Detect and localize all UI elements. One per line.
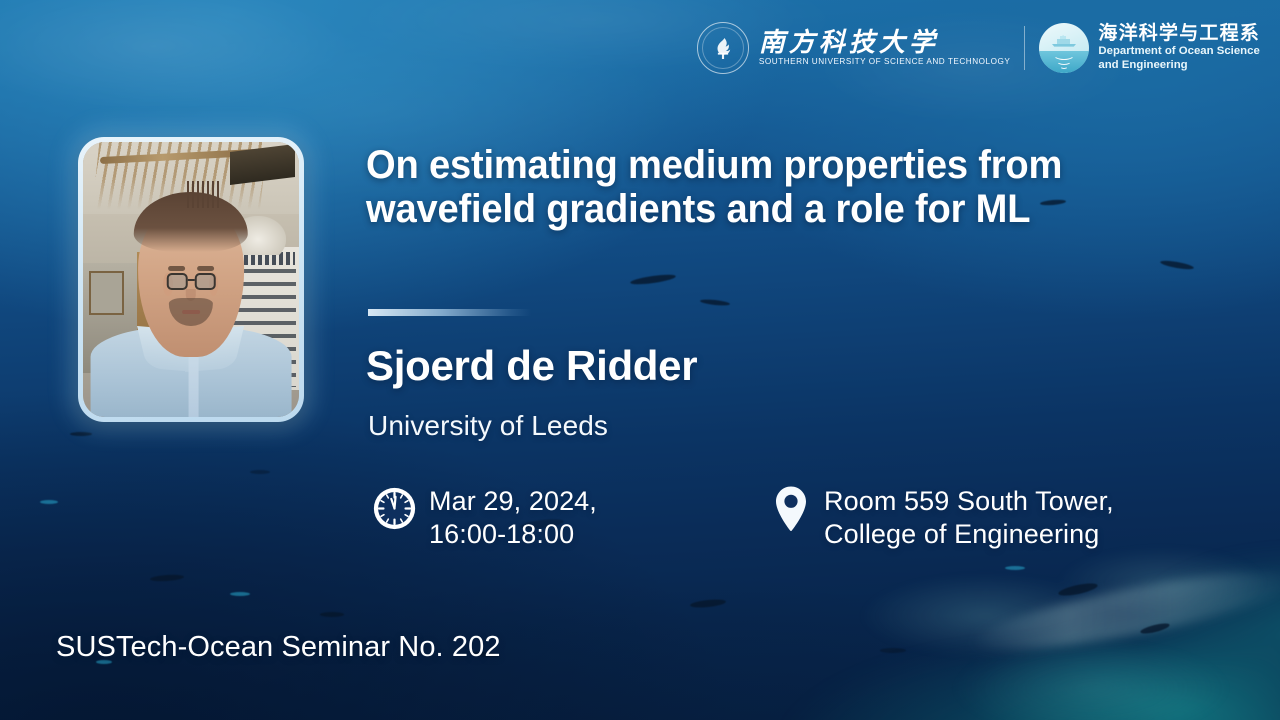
event-details: Mar 29, 2024, 16:00-18:00 Room 559 South…	[366, 484, 1246, 564]
ocean-name-cn: 海洋科学与工程系	[1098, 24, 1260, 44]
sustech-name-cn: 南方科技大学	[759, 30, 1010, 56]
seminar-series-label: SUSTech-Ocean Seminar No. 202	[56, 633, 501, 662]
sonar-wave	[1060, 64, 1068, 69]
poster-content: On estimating medium properties from wav…	[366, 0, 1246, 720]
ocean-dept-logo: 海洋科学与工程系 Department of Ocean Science and…	[1039, 23, 1260, 73]
sustech-wordmark: 南方科技大学 SOUTHERN UNIVERSITY OF SCIENCE AN…	[759, 30, 1010, 66]
event-location-text: Room 559 South Tower, College of Enginee…	[824, 484, 1114, 551]
fish-silhouette	[250, 470, 270, 474]
photo-cabinet	[89, 271, 124, 315]
sustech-seal-icon	[697, 22, 749, 74]
photo-brow-left	[168, 266, 185, 271]
logo-divider	[1024, 26, 1025, 70]
fish-silhouette	[70, 432, 92, 436]
speaker-name: Sjoerd de Ridder	[366, 345, 697, 387]
sustech-logo: 南方科技大学 SOUTHERN UNIVERSITY OF SCIENCE AN…	[697, 22, 1010, 74]
fish-silhouette	[40, 500, 58, 504]
photo-lens-right	[194, 273, 215, 290]
seminar-title: On estimating medium properties from wav…	[366, 143, 1206, 231]
event-location: Room 559 South Tower, College of Enginee…	[768, 484, 1114, 551]
photo-glasses-bridge	[188, 279, 195, 281]
photo-brow-right	[197, 266, 214, 271]
ocean-name-en-l1: Department of Ocean Science	[1098, 45, 1260, 58]
photo-lens-left	[167, 273, 188, 290]
speaker-photo-frame	[78, 137, 304, 422]
event-datetime: Mar 29, 2024, 16:00-18:00	[372, 484, 597, 551]
fish-silhouette	[320, 612, 344, 617]
ocean-dept-wordmark: 海洋科学与工程系 Department of Ocean Science and…	[1098, 24, 1260, 73]
photo-mouth	[182, 310, 200, 314]
title-divider	[368, 309, 531, 316]
fish-silhouette	[230, 592, 250, 596]
sustech-name-en: SOUTHERN UNIVERSITY OF SCIENCE AND TECHN…	[759, 58, 1010, 66]
photo-hair-spikes	[187, 181, 222, 209]
speaker-affiliation: University of Leeds	[368, 412, 608, 440]
ocean-name-en-l2: and Engineering	[1098, 59, 1260, 72]
speaker-photo	[83, 142, 299, 417]
sustech-flame-glyph	[712, 37, 734, 60]
location-pin-icon	[774, 485, 808, 533]
event-datetime-text: Mar 29, 2024, 16:00-18:00	[429, 484, 597, 551]
header-logos: 南方科技大学 SOUTHERN UNIVERSITY OF SCIENCE AN…	[697, 22, 1260, 74]
seminar-poster: 南方科技大学 SOUTHERN UNIVERSITY OF SCIENCE AN…	[0, 0, 1280, 720]
photo-eyeglasses	[167, 273, 216, 290]
research-vessel-glyph	[1051, 35, 1079, 47]
ocean-ship-badge-icon	[1039, 23, 1089, 73]
clock-icon	[372, 486, 417, 531]
